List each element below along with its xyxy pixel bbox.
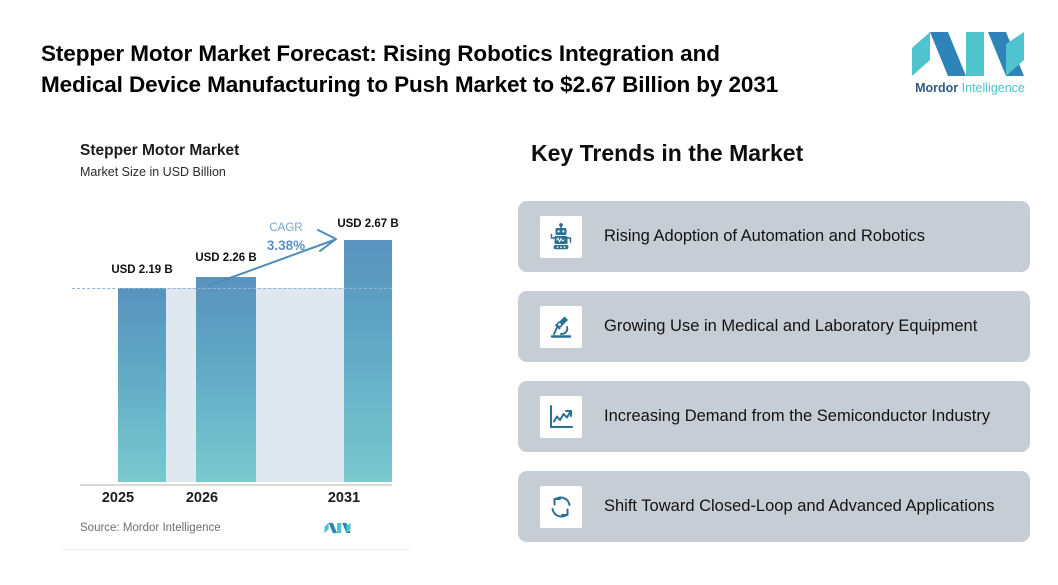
- page-title: Stepper Motor Market Forecast: Rising Ro…: [41, 38, 891, 100]
- brand-word-primary: Mordor: [915, 81, 958, 95]
- trend-list: Rising Adoption of Automation and Roboti…: [518, 201, 1030, 561]
- bar-2031: [344, 240, 392, 482]
- brand-wordmark: Mordor Intelligence: [910, 81, 1030, 96]
- robot-icon: [540, 216, 582, 258]
- infographic-page: Stepper Motor Market Forecast: Rising Ro…: [0, 0, 1058, 585]
- cagr-annotation: CAGR 3.38%: [244, 220, 328, 254]
- trend-card-medical-laboratory[interactable]: Growing Use in Medical and Laboratory Eq…: [518, 291, 1030, 362]
- microscope-icon: [540, 306, 582, 348]
- trend-label: Shift Toward Closed-Loop and Advanced Ap…: [604, 495, 994, 518]
- page-title-line-1: Stepper Motor Market Forecast: Rising Ro…: [41, 38, 891, 69]
- trend-label: Rising Adoption of Automation and Roboti…: [604, 225, 925, 248]
- chart-source: Source: Mordor Intelligence: [80, 522, 221, 534]
- refresh-loop-icon: [540, 486, 582, 528]
- trend-label: Increasing Demand from the Semiconductor…: [604, 405, 990, 428]
- trend-card-automation-robotics[interactable]: Rising Adoption of Automation and Roboti…: [518, 201, 1030, 272]
- panel-divider: [62, 549, 410, 550]
- mordor-m-logo-icon: [324, 518, 352, 538]
- bar-2025: [118, 288, 166, 482]
- trend-card-closed-loop[interactable]: Shift Toward Closed-Loop and Advanced Ap…: [518, 471, 1030, 542]
- cagr-label-text: CAGR: [244, 220, 328, 237]
- bar-2026: [196, 277, 256, 482]
- bar-label-2031: USD 2.67 B: [318, 218, 418, 230]
- axis-tick-2031: 2031: [314, 490, 374, 506]
- brand-word-secondary: Intelligence: [962, 81, 1025, 95]
- trend-label: Growing Use in Medical and Laboratory Eq…: [604, 315, 977, 338]
- mordor-m-logo-icon: [910, 30, 1030, 78]
- page-title-line-2: Medical Device Manufacturing to Push Mar…: [41, 69, 891, 100]
- bar-label-2025: USD 2.19 B: [92, 264, 192, 276]
- trend-card-semiconductor-demand[interactable]: Increasing Demand from the Semiconductor…: [518, 381, 1030, 452]
- trends-heading: Key Trends in the Market: [531, 140, 803, 167]
- cagr-value-text: 3.38%: [244, 237, 328, 254]
- chart-plot-area: USD 2.19 B USD 2.26 B USD 2.67 B CAGR 3.…: [80, 206, 392, 482]
- axis-tick-2026: 2026: [172, 490, 232, 506]
- chart-subtitle: Market Size in USD Billion: [80, 165, 226, 179]
- reference-dashed-line: [72, 288, 392, 289]
- gap-band: [166, 288, 196, 482]
- chart-title: Stepper Motor Market: [80, 142, 239, 160]
- axis-tick-2025: 2025: [88, 490, 148, 506]
- chart-panel: Stepper Motor Market Market Size in USD …: [56, 124, 416, 550]
- chart-axis-line: [80, 484, 392, 486]
- line-chart-icon: [540, 396, 582, 438]
- brand-logo: Mordor Intelligence: [910, 30, 1030, 106]
